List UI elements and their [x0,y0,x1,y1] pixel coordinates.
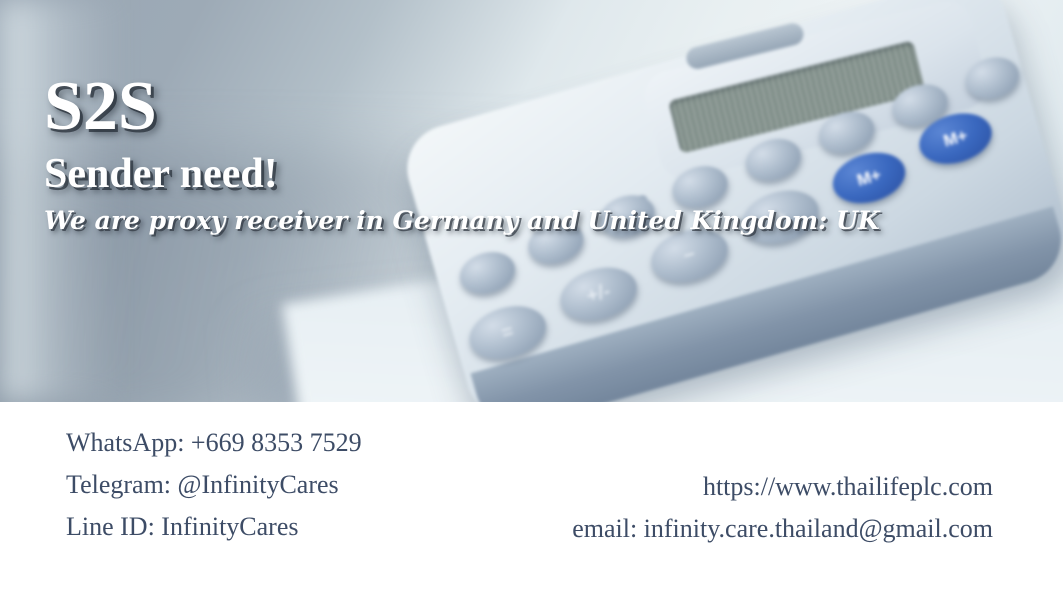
contact-whatsapp[interactable]: WhatsApp: +669 8353 7529 [66,422,362,464]
hero-banner: = +/- − + M+ M+ S2S Sender need! We are … [0,0,1063,402]
calculator-key-sign: +/- [554,259,643,329]
hero-text-block: S2S Sender need! We are proxy receiver i… [44,70,880,238]
contact-column-right: https://www.thailifeplc.com email: infin… [572,466,993,550]
contact-line-id[interactable]: Line ID: InfinityCares [66,506,362,548]
contact-website-url[interactable]: https://www.thailifeplc.com [572,466,993,508]
contact-telegram[interactable]: Telegram: @InfinityCares [66,464,362,506]
calculator-key [455,246,520,300]
contact-email[interactable]: email: infinity.care.thailand@gmail.com [572,508,993,550]
contact-grid: WhatsApp: +669 8353 7529 Telegram: @Infi… [0,402,1063,600]
calculator-key-equals: = [463,298,552,368]
promo-card: = +/- − + M+ M+ S2S Sender need! We are … [0,0,1063,600]
contact-panel: WhatsApp: +669 8353 7529 Telegram: @Infi… [0,402,1063,600]
hero-tagline: We are proxy receiver in Germany and Uni… [44,204,880,238]
hero-subheadline: Sender need! [44,150,880,198]
contact-column-left: WhatsApp: +669 8353 7529 Telegram: @Infi… [66,422,362,548]
brand-title: S2S [44,70,880,144]
